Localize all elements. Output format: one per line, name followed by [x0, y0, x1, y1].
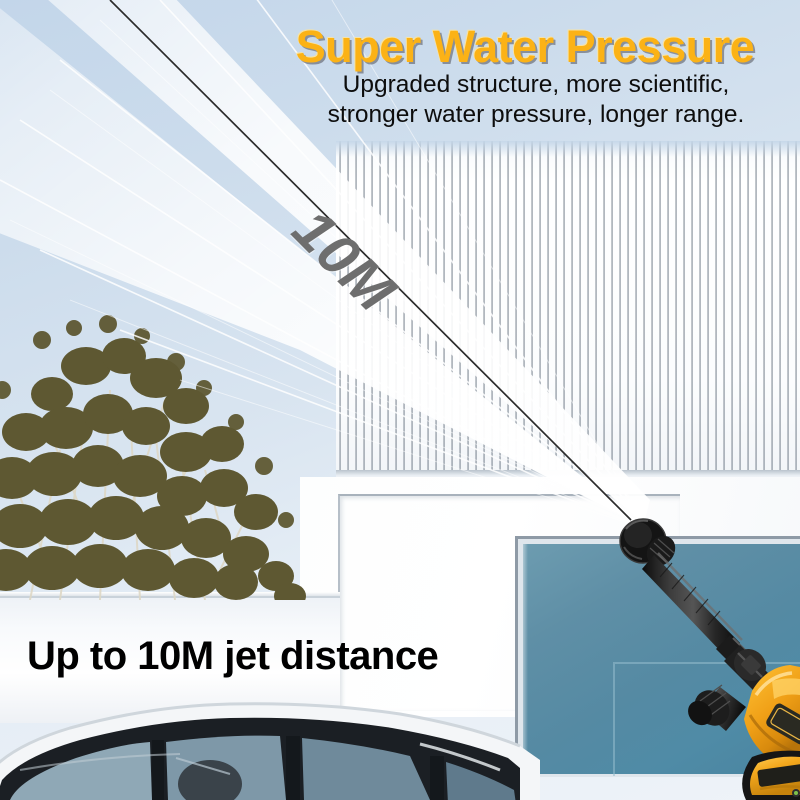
foliage-svg — [0, 270, 310, 600]
jet-distance-caption: Up to 10M jet distance — [27, 634, 438, 679]
page-title: Super Water Pressure — [258, 21, 792, 73]
subtitle-block: Upgraded structure, more scientific, str… — [280, 70, 792, 130]
subtitle-line-2: stronger water pressure, longer range. — [280, 100, 792, 130]
facade-top-fade — [336, 141, 800, 157]
pressure-washer-gun[interactable] — [600, 495, 800, 800]
ribbed-facade — [336, 141, 800, 478]
car-svg — [0, 700, 540, 800]
pressure-washer-svg — [600, 495, 800, 800]
product-poster: 10M — [0, 0, 800, 800]
water-inlet-fitting — [683, 683, 746, 733]
battery-pack — [742, 751, 800, 800]
subtitle-line-1: Upgraded structure, more scientific, — [280, 70, 792, 100]
car — [0, 700, 540, 800]
tree-foliage — [0, 270, 310, 600]
